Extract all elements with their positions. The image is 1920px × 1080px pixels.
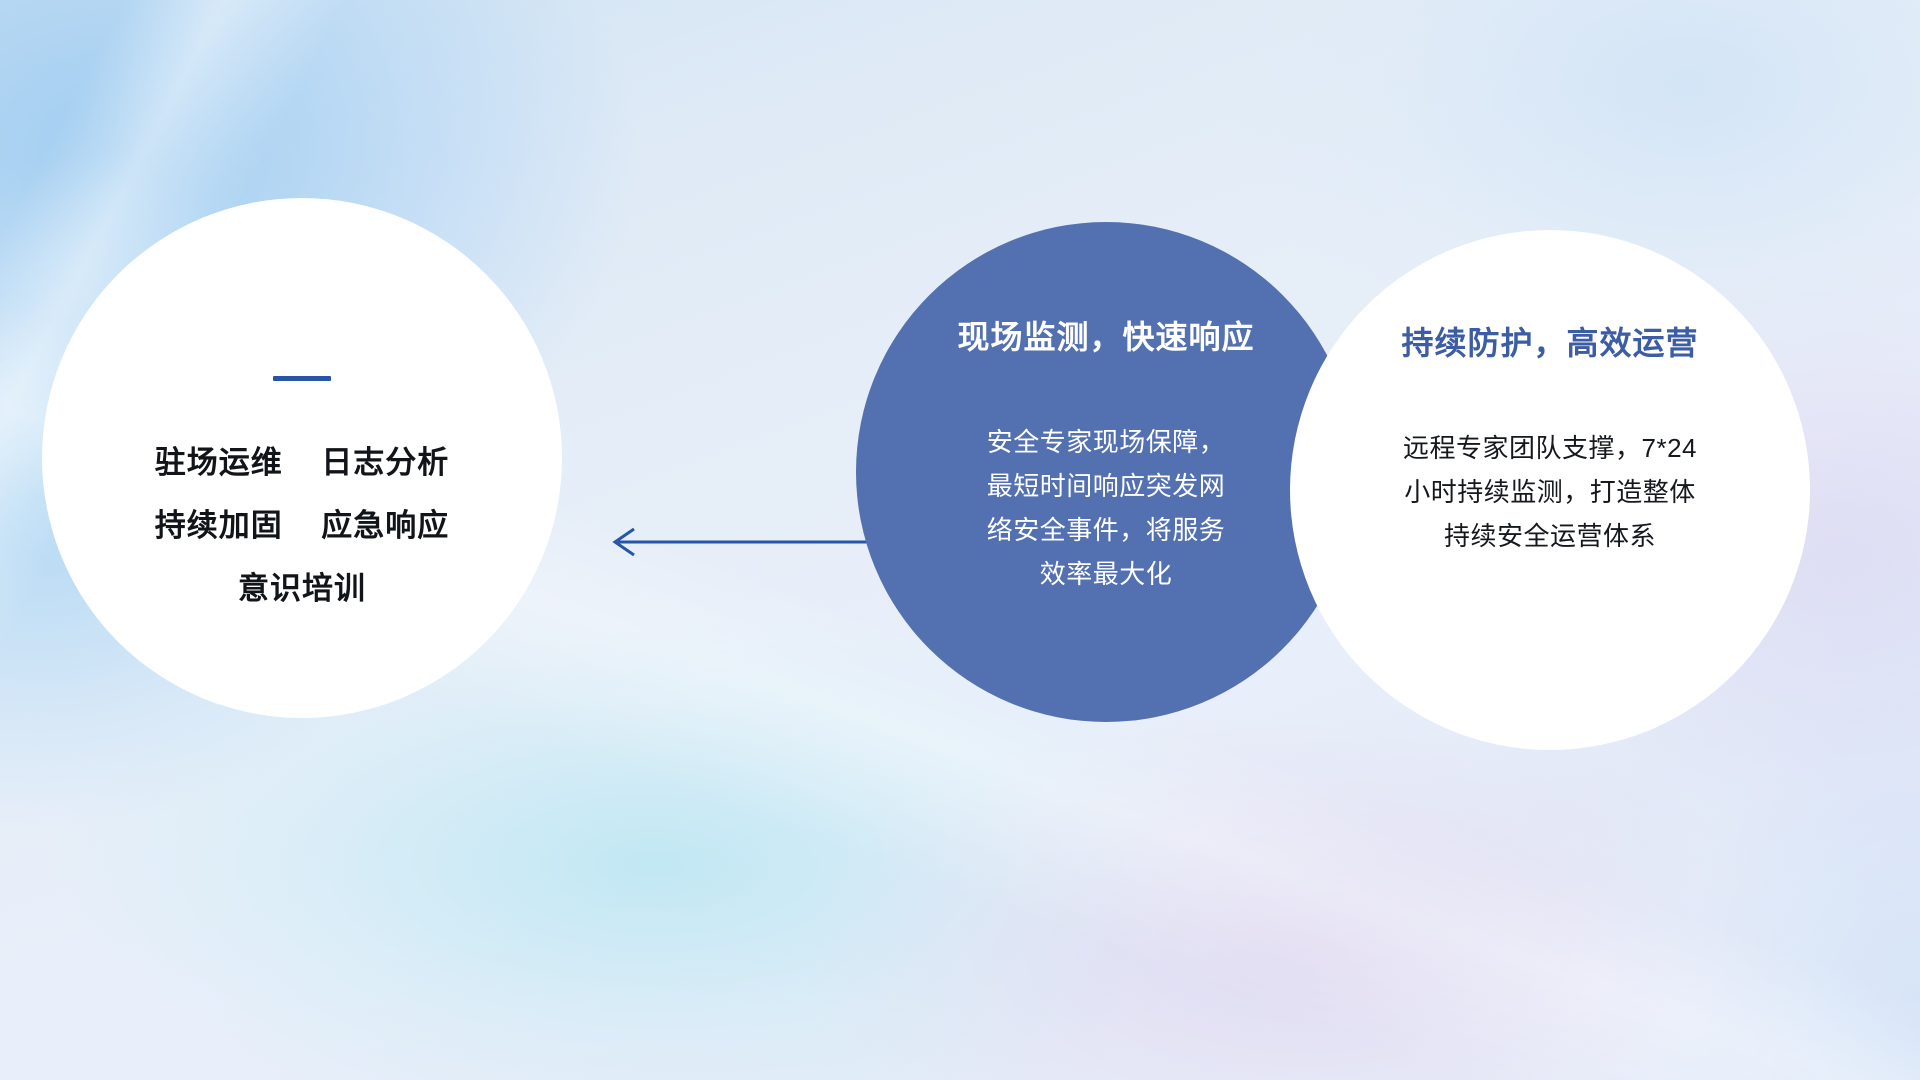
onsite-monitoring-body-line: 安全专家现场保障， <box>941 420 1271 464</box>
continuous-protection-body-line: 持续安全运营体系 <box>1350 514 1750 558</box>
continuous-protection-body: 远程专家团队支撑，7*24 小时持续监测，打造整体 持续安全运营体系 <box>1350 426 1750 558</box>
onsite-monitoring-body-line: 最短时间响应突发网 <box>941 464 1271 508</box>
capability-keyword-list: 驻场运维 日志分析 持续加固 应急响应 意识培训 <box>155 431 449 620</box>
slide-canvas: 驻场运维 日志分析 持续加固 应急响应 意识培训 现场监测，快速响应 安全专家现… <box>0 0 1920 1080</box>
capability-line-2: 持续加固 应急响应 <box>155 494 449 557</box>
capability-line-1: 驻场运维 日志分析 <box>155 431 449 494</box>
capability-line-3: 意识培训 <box>155 557 449 620</box>
onsite-monitoring-body-line: 效率最大化 <box>941 552 1271 596</box>
capability-circle-left[interactable]: 驻场运维 日志分析 持续加固 应急响应 意识培训 <box>42 198 562 718</box>
continuous-protection-body-line: 远程专家团队支撑，7*24 <box>1350 426 1750 470</box>
connector-arrow-icon <box>600 522 880 562</box>
onsite-monitoring-circle[interactable]: 现场监测，快速响应 安全专家现场保障， 最短时间响应突发网 络安全事件，将服务 … <box>856 222 1356 722</box>
onsite-monitoring-body: 安全专家现场保障， 最短时间响应突发网 络安全事件，将服务 效率最大化 <box>941 420 1271 596</box>
onsite-monitoring-body-line: 络安全事件，将服务 <box>941 508 1271 552</box>
continuous-protection-title: 持续防护，高效运营 <box>1401 318 1698 364</box>
accent-rule-icon <box>273 376 331 381</box>
onsite-monitoring-title: 现场监测，快速响应 <box>957 312 1254 358</box>
continuous-protection-body-line: 小时持续监测，打造整体 <box>1350 470 1750 514</box>
continuous-protection-circle[interactable]: 持续防护，高效运营 远程专家团队支撑，7*24 小时持续监测，打造整体 持续安全… <box>1290 230 1810 750</box>
